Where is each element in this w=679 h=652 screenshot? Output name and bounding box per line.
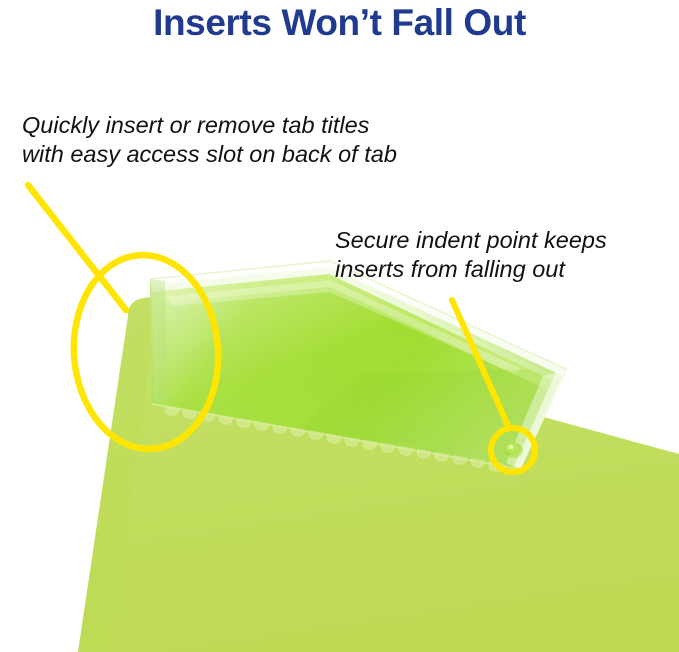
- page-title: Inserts Won’t Fall Out: [0, 2, 679, 44]
- infographic-canvas: Inserts Won’t Fall Out Quickly insert or…: [0, 0, 679, 652]
- callout-left-line-2: with easy access slot on back of tab: [22, 140, 397, 169]
- callout-right-line-1: Secure indent point keeps: [335, 226, 607, 255]
- callout-right-line-2: inserts from falling out: [335, 255, 607, 284]
- tab-left-shadow: [150, 279, 168, 404]
- callout-text-secure-indent-point: Secure indent point keeps inserts from f…: [335, 226, 607, 284]
- product-illustration: [0, 0, 679, 652]
- callout-left-line-1: Quickly insert or remove tab titles: [22, 111, 397, 140]
- callout-text-insert-remove-tab-titles: Quickly insert or remove tab titles with…: [22, 111, 397, 169]
